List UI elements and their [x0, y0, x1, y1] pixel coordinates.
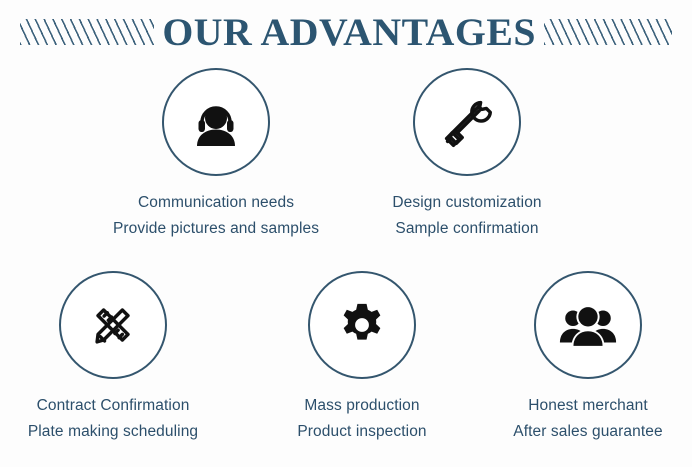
advantage-label: Design customization Sample confirmation: [392, 190, 541, 242]
advantage-item-contract-confirmation: Contract Confirmation Plate making sched…: [0, 271, 228, 445]
gear-cog-icon: [308, 271, 416, 379]
page-title: OUR ADVANTAGES: [162, 13, 536, 52]
advantage-label-line-1: Design customization: [392, 190, 541, 216]
advantage-label: Contract Confirmation Plate making sched…: [28, 393, 198, 445]
hatch-decoration-left: [20, 19, 154, 45]
advantage-label-line-2: Product inspection: [297, 419, 426, 445]
pencil-ruler-design-icon: [59, 271, 167, 379]
advantage-label-line-1: Mass production: [297, 393, 426, 419]
advantage-label: Mass production Product inspection: [297, 393, 426, 445]
advantage-label-line-1: Contract Confirmation: [28, 393, 198, 419]
advantage-label-line-2: Sample confirmation: [392, 216, 541, 242]
advantage-label: Honest merchant After sales guarantee: [513, 393, 662, 445]
advantages-grid: Communication needs Provide pictures and…: [0, 64, 692, 467]
advantage-label-line-2: After sales guarantee: [513, 419, 662, 445]
advantage-label-line-1: Honest merchant: [513, 393, 662, 419]
advantage-item-mass-production: Mass production Product inspection: [247, 271, 477, 445]
advantage-item-communication: Communication needs Provide pictures and…: [101, 68, 331, 242]
page-header: OUR ADVANTAGES: [0, 0, 692, 64]
group-of-people-icon: [534, 271, 642, 379]
hatch-decoration-right: [544, 19, 672, 45]
wrench-screwdriver-tools-icon: [413, 68, 521, 176]
advantage-item-design-customization: Design customization Sample confirmation: [352, 68, 582, 242]
advantage-item-honest-merchant: Honest merchant After sales guarantee: [473, 271, 692, 445]
advantage-label-line-2: Provide pictures and samples: [113, 216, 319, 242]
advantage-label-line-1: Communication needs: [113, 190, 319, 216]
headset-support-person-icon: [162, 68, 270, 176]
advantage-label-line-2: Plate making scheduling: [28, 419, 198, 445]
advantage-label: Communication needs Provide pictures and…: [113, 190, 319, 242]
